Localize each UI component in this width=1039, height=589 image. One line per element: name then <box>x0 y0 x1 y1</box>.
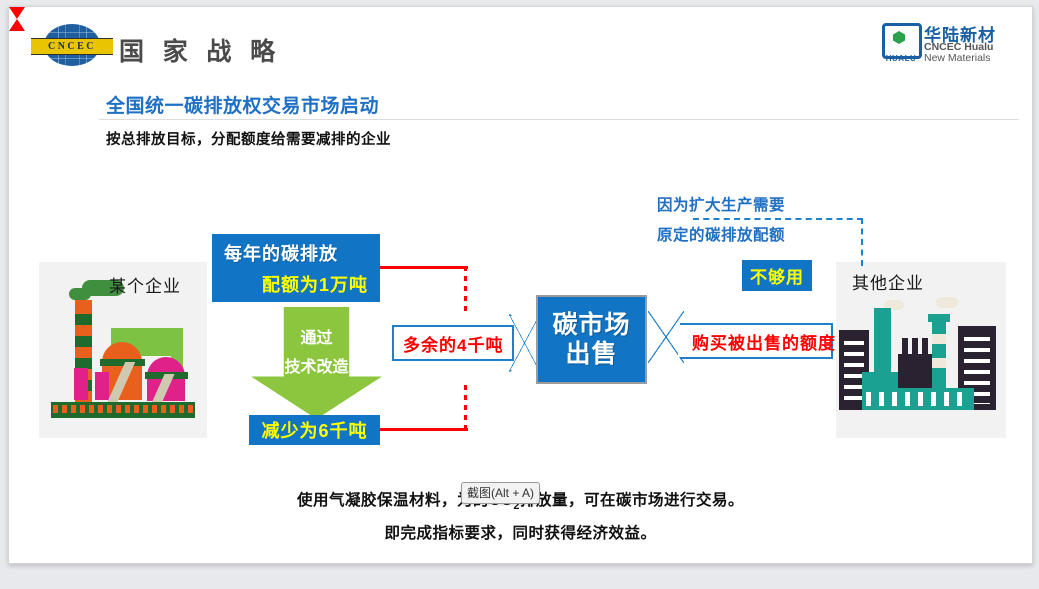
right-factory-windows <box>866 392 970 406</box>
surplus-sell-arrow: 多余的4千吨 <box>392 325 538 361</box>
right-photo-label: 其他企业 <box>852 269 924 294</box>
hualu-en-line2: New Materials <box>924 52 991 64</box>
not-enough-label: 不够用 <box>750 263 804 288</box>
buy-arrow-body: 购买被出售的额度 <box>680 323 833 359</box>
hualu-mark-word: HUALU <box>882 54 920 63</box>
green-arrow-line2: 技术改造 <box>251 353 382 377</box>
purchase-quota-arrow: 购买被出售的额度 <box>648 319 833 363</box>
surplus-label: 多余的4千吨 <box>403 331 503 356</box>
carbon-market-line2: 出售 <box>565 340 617 369</box>
snip-tooltip[interactable]: 截图(Alt + A) <box>461 482 540 504</box>
annual-quota-box: 每年的碳排放 配额为1万吨 <box>212 234 380 302</box>
building-block-2 <box>95 372 109 400</box>
purchase-label: 购买被出售的额度 <box>692 329 836 354</box>
green-arrow-line1: 通过 <box>251 324 382 348</box>
sell-arrow-notch <box>508 327 512 359</box>
annual-quota-line1: 每年的碳排放 <box>224 240 368 266</box>
reduced-emission-box: 减少为6千吨 <box>249 415 380 445</box>
carbon-market-line1: 碳市场 <box>552 311 630 340</box>
technology-upgrade-arrow: 通过 技术改造 <box>251 307 382 419</box>
not-enough-box: 不够用 <box>742 260 812 291</box>
building-left-windows <box>844 338 864 404</box>
red-connector-bottom <box>380 428 468 431</box>
mid-building <box>898 354 932 390</box>
slide-canvas: CNCEC 国 家 战 略 HUALU 华陆新材 CNCEC Hualu New… <box>8 6 1033 564</box>
reduced-emission-label: 减少为6千吨 <box>261 417 367 443</box>
hualu-logo: HUALU 华陆新材 CNCEC Hualu New Materials <box>882 21 1014 65</box>
smoke-icon-b <box>936 297 958 308</box>
striped-chimney-icon <box>932 320 946 390</box>
red-dotted-top <box>464 266 467 312</box>
red-arrowhead-up <box>9 19 25 31</box>
expansion-caption-line1: 因为扩大生产需要 <box>657 193 785 215</box>
expansion-caption-line2: 原定的碳排放配额 <box>657 223 785 245</box>
blue-dashed-connector-vertical <box>861 218 863 266</box>
smoke-icon-small <box>69 288 91 300</box>
blue-dashed-connector-horizontal <box>693 218 863 220</box>
left-photo-label: 某个企业 <box>109 272 181 297</box>
page-title: 全国统一碳排放权交易市场启动 <box>106 91 379 118</box>
buy-arrow-notch <box>678 325 683 357</box>
red-arrowhead-down <box>9 7 25 19</box>
footer-line-2: 即完成指标要求，同时获得经济效益。 <box>9 521 1032 543</box>
building-block-1 <box>74 368 88 400</box>
factory-windows <box>53 405 193 413</box>
annual-quota-line2: 配额为1万吨 <box>224 271 368 297</box>
footer-part-1: 使用气凝胶保温材料，为 <box>297 492 473 509</box>
red-dotted-bottom <box>464 385 467 429</box>
carbon-market-box: 碳市场 出售 <box>536 295 647 384</box>
title-divider <box>99 119 1019 120</box>
cncec-logo: CNCEC <box>31 23 113 67</box>
sell-arrow-body: 多余的4千吨 <box>392 325 514 361</box>
slogan-text: 国 家 战 略 <box>119 32 280 68</box>
cncec-logo-text: CNCEC <box>31 38 113 55</box>
page-subtitle: 按总排放目标，分配额度给需要减排的企业 <box>106 128 391 149</box>
footer-part-3: 排放量，可在碳市场进行交易。 <box>520 492 744 509</box>
red-connector-top <box>380 266 468 269</box>
